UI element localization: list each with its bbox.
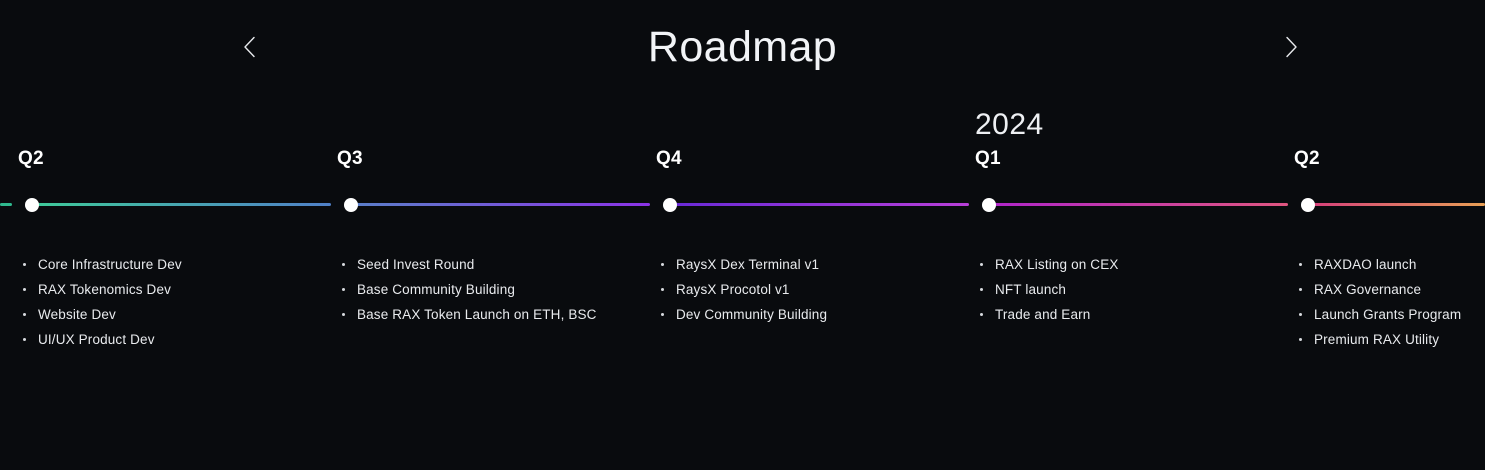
bullet-icon xyxy=(661,263,664,266)
list-item: Core Infrastructure Dev xyxy=(18,252,326,277)
timeline-column-q2-0[interactable]: Q2Core Infrastructure DevRAX Tokenomics … xyxy=(7,95,326,470)
milestone-label: Base RAX Token Launch on ETH, BSC xyxy=(357,307,597,322)
list-item: Dev Community Building xyxy=(656,302,964,327)
list-item: Base RAX Token Launch on ETH, BSC xyxy=(337,302,645,327)
milestone-label: RAX Listing on CEX xyxy=(995,257,1119,272)
quarter-label: Q2 xyxy=(18,148,44,170)
milestone-label: Trade and Earn xyxy=(995,307,1090,322)
milestone-label: Core Infrastructure Dev xyxy=(38,257,182,272)
milestone-label: Premium RAX Utility xyxy=(1314,332,1439,347)
quarter-label: Q1 xyxy=(975,148,1001,170)
bullet-icon xyxy=(1299,313,1302,316)
bullet-icon xyxy=(342,288,345,291)
list-item: RAX Governance xyxy=(1294,277,1485,302)
milestone-label: Dev Community Building xyxy=(676,307,827,322)
list-item: RAXDAO launch xyxy=(1294,252,1485,277)
milestone-label: Launch Grants Program xyxy=(1314,307,1461,322)
timeline-column-q2-4[interactable]: Q2RAXDAO launchRAX GovernanceLaunch Gran… xyxy=(1283,95,1485,470)
list-item: Launch Grants Program xyxy=(1294,302,1485,327)
quarter-label: Q4 xyxy=(656,148,682,170)
milestone-label: RaysX Procotol v1 xyxy=(676,282,790,297)
page-title: Roadmap xyxy=(0,20,1485,74)
bullet-icon xyxy=(980,288,983,291)
milestone-label: UI/UX Product Dev xyxy=(38,332,155,347)
milestone-label: RAX Governance xyxy=(1314,282,1421,297)
milestone-list: RAX Listing on CEXNFT launchTrade and Ea… xyxy=(975,252,1283,327)
bullet-icon xyxy=(661,313,664,316)
timeline-column-q4-2[interactable]: Q4RaysX Dex Terminal v1RaysX Procotol v1… xyxy=(645,95,964,470)
list-item: UI/UX Product Dev xyxy=(18,327,326,352)
timeline-column-q1-3[interactable]: 2024Q1RAX Listing on CEXNFT launchTrade … xyxy=(964,95,1283,470)
bullet-icon xyxy=(1299,288,1302,291)
milestone-list: RAXDAO launchRAX GovernanceLaunch Grants… xyxy=(1294,252,1485,352)
bullet-icon xyxy=(342,313,345,316)
bullet-icon xyxy=(980,263,983,266)
timeline-column-q3-1[interactable]: Q3Seed Invest RoundBase Community Buildi… xyxy=(326,95,645,470)
bullet-icon xyxy=(23,288,26,291)
timeline-milestone-dot[interactable] xyxy=(25,198,39,212)
milestone-label: RAX Tokenomics Dev xyxy=(38,282,171,297)
bullet-icon xyxy=(1299,338,1302,341)
roadmap-page: Roadmap Q2Core Infrastructure DevRAX Tok… xyxy=(0,0,1485,470)
bullet-icon xyxy=(23,263,26,266)
list-item: Trade and Earn xyxy=(975,302,1283,327)
timeline-milestone-dot[interactable] xyxy=(344,198,358,212)
list-item: Premium RAX Utility xyxy=(1294,327,1485,352)
list-item: RAX Listing on CEX xyxy=(975,252,1283,277)
list-item: Seed Invest Round xyxy=(337,252,645,277)
milestone-label: Seed Invest Round xyxy=(357,257,474,272)
timeline-milestone-dot[interactable] xyxy=(982,198,996,212)
milestone-label: NFT launch xyxy=(995,282,1066,297)
list-item: RaysX Dex Terminal v1 xyxy=(656,252,964,277)
milestone-list: Seed Invest RoundBase Community Building… xyxy=(337,252,645,327)
milestone-list: Core Infrastructure DevRAX Tokenomics De… xyxy=(18,252,326,352)
quarter-label: Q3 xyxy=(337,148,363,170)
roadmap-header: Roadmap xyxy=(0,0,1485,95)
bullet-icon xyxy=(342,263,345,266)
next-arrow-button[interactable] xyxy=(1274,30,1308,64)
bullet-icon xyxy=(661,288,664,291)
list-item: RaysX Procotol v1 xyxy=(656,277,964,302)
quarter-label: Q2 xyxy=(1294,148,1320,170)
milestone-label: RaysX Dex Terminal v1 xyxy=(676,257,819,272)
list-item: NFT launch xyxy=(975,277,1283,302)
list-item: Base Community Building xyxy=(337,277,645,302)
year-label: 2024 xyxy=(975,107,1044,143)
milestone-label: RAXDAO launch xyxy=(1314,257,1417,272)
timeline-milestone-dot[interactable] xyxy=(663,198,677,212)
chevron-right-icon xyxy=(1285,36,1298,58)
milestone-label: Website Dev xyxy=(38,307,116,322)
bullet-icon xyxy=(23,338,26,341)
roadmap-timeline: Q2Core Infrastructure DevRAX Tokenomics … xyxy=(0,95,1485,470)
bullet-icon xyxy=(980,313,983,316)
list-item: RAX Tokenomics Dev xyxy=(18,277,326,302)
list-item: Website Dev xyxy=(18,302,326,327)
bullet-icon xyxy=(23,313,26,316)
bullet-icon xyxy=(1299,263,1302,266)
timeline-milestone-dot[interactable] xyxy=(1301,198,1315,212)
milestone-list: RaysX Dex Terminal v1RaysX Procotol v1De… xyxy=(656,252,964,327)
milestone-label: Base Community Building xyxy=(357,282,515,297)
